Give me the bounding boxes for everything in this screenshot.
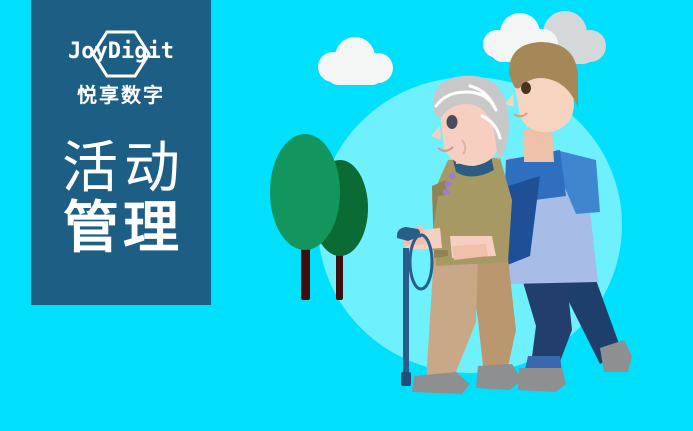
cane-tip — [401, 372, 411, 386]
brand-logo[interactable]: JoyDigit — [41, 26, 201, 78]
page-title-line-2: 管理 — [59, 199, 183, 259]
poster-canvas: JoyDigit 悦享数字 活动 管理 — [0, 0, 693, 431]
title-banner: JoyDigit 悦享数字 活动 管理 — [31, 0, 211, 305]
page-title-line-1: 活动 — [56, 139, 186, 199]
brand-subtitle: 悦享数字 — [77, 85, 165, 105]
brand-wordmark: JoyDigit — [68, 41, 174, 63]
young-man-eye — [521, 82, 531, 94]
woman-eye — [447, 115, 458, 129]
page-title: 活动 管理 — [56, 139, 186, 260]
young-man-front-shoe — [518, 368, 566, 392]
cane-shaft — [403, 248, 409, 384]
young-man-neck — [524, 130, 554, 162]
